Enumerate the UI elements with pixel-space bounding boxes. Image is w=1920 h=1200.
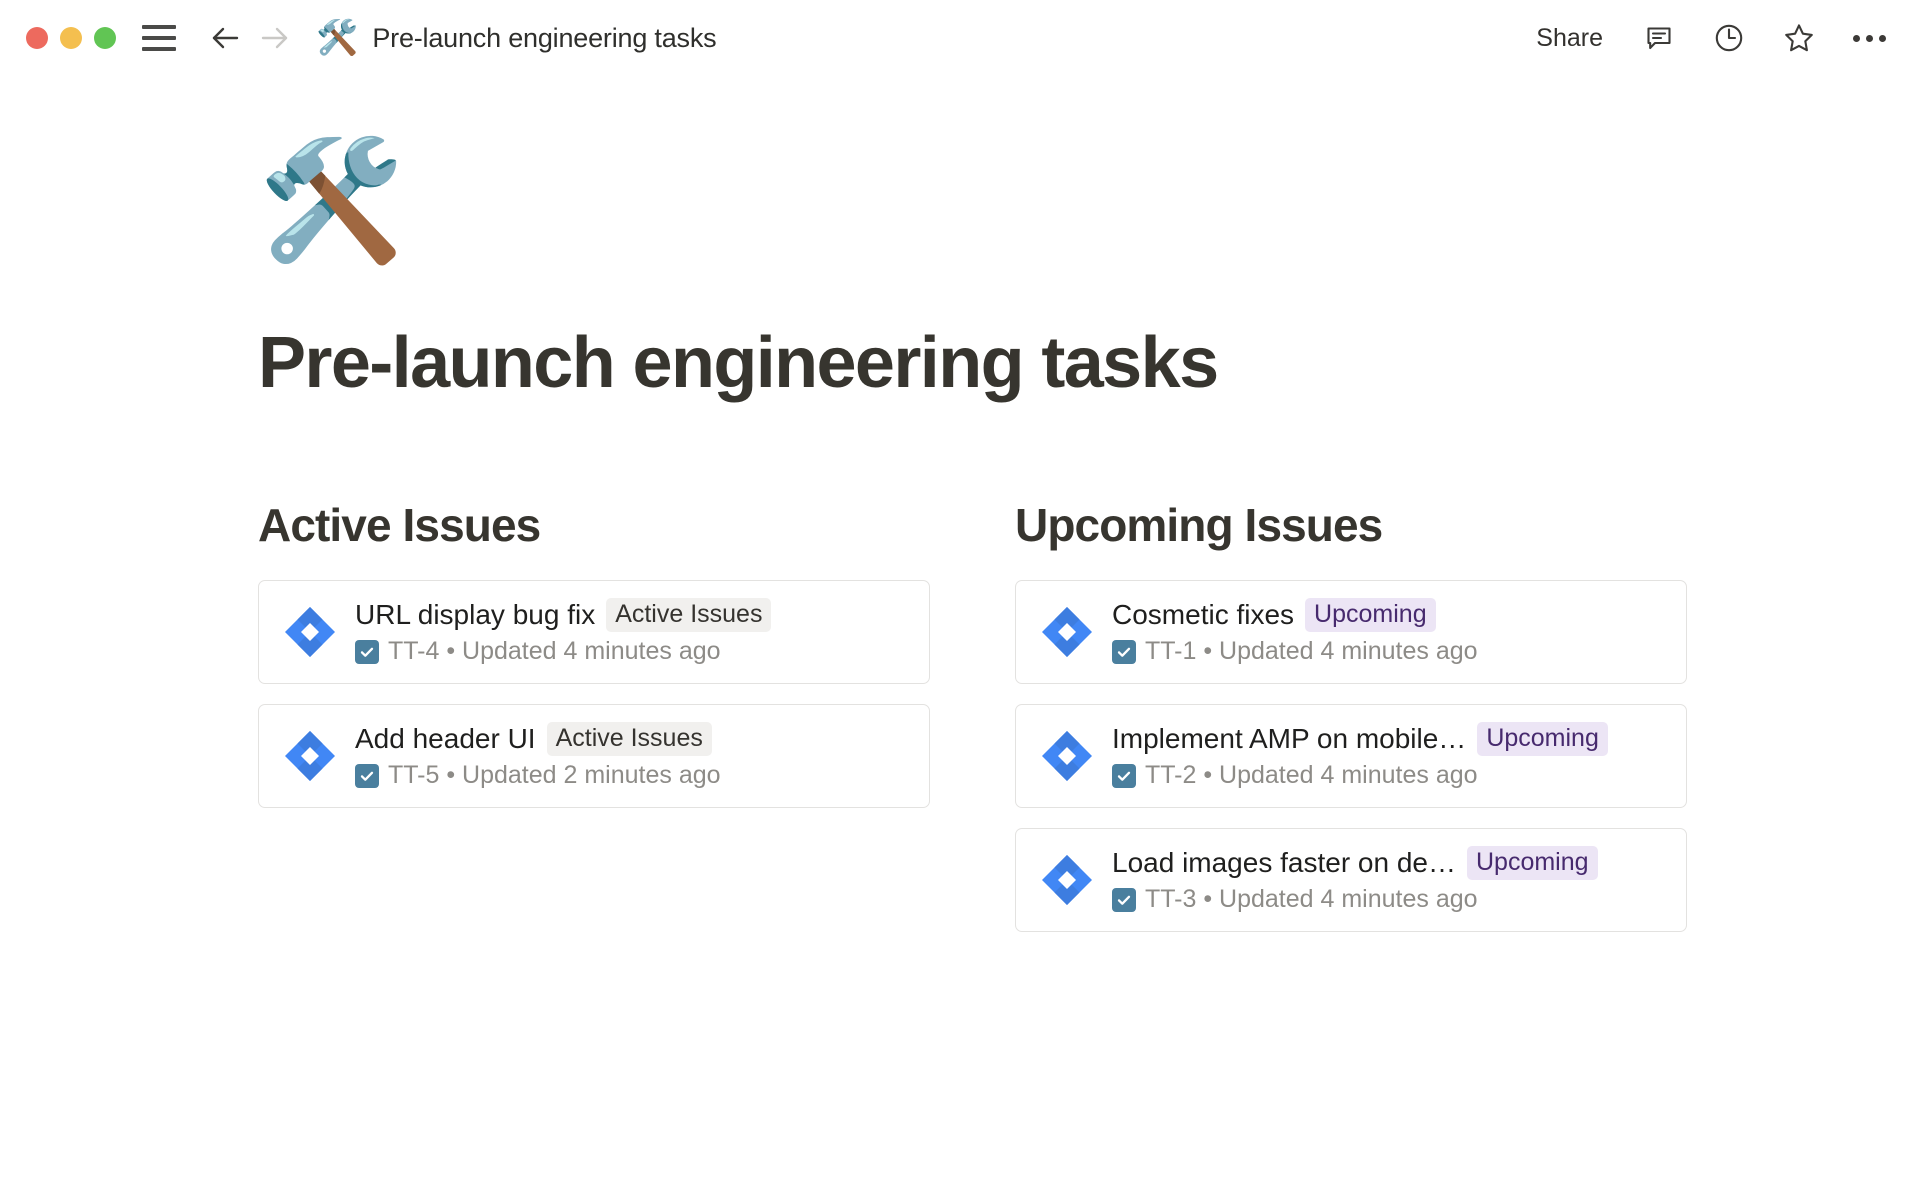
status-badge: Upcoming — [1477, 722, 1608, 757]
star-icon[interactable] — [1779, 18, 1819, 58]
share-button[interactable]: Share — [1530, 20, 1609, 57]
ellipsis-icon[interactable] — [1849, 35, 1890, 42]
arrow-left-icon[interactable] — [204, 17, 246, 59]
issue-card-meta-row: TT-4 • Updated 4 minutes ago — [355, 637, 911, 666]
maximize-window-button[interactable] — [94, 27, 116, 49]
issue-title: Add header UI — [355, 723, 536, 755]
issue-card-body: Add header UI Active Issues TT-5 • Updat… — [355, 722, 911, 791]
comment-icon[interactable] — [1639, 18, 1679, 58]
issue-card-body: URL display bug fix Active Issues TT-4 •… — [355, 598, 911, 667]
issue-meta: TT-2 • Updated 4 minutes ago — [1145, 761, 1478, 790]
page-title[interactable]: Pre-launch engineering tasks — [258, 324, 1920, 403]
status-badge: Upcoming — [1305, 598, 1436, 633]
issue-card-title-row: Cosmetic fixes Upcoming — [1112, 598, 1668, 633]
issue-card[interactable]: URL display bug fix Active Issues TT-4 •… — [258, 580, 930, 684]
jira-icon — [1038, 603, 1096, 661]
column-upcoming-issues: Upcoming Issues Cosmetic fixes — [1015, 499, 1687, 952]
issue-card-meta-row: TT-1 • Updated 4 minutes ago — [1112, 637, 1668, 666]
issue-checkbox[interactable] — [355, 764, 379, 788]
issue-card-title-row: URL display bug fix Active Issues — [355, 598, 911, 633]
status-badge: Active Issues — [547, 722, 712, 757]
page-emoji-icon[interactable]: 🛠️ — [258, 142, 1920, 282]
issue-card-title-row: Load images faster on de… Upcoming — [1112, 846, 1668, 881]
issue-meta: TT-4 • Updated 4 minutes ago — [388, 637, 721, 666]
traffic-lights — [26, 27, 116, 49]
issue-checkbox[interactable] — [355, 640, 379, 664]
close-window-button[interactable] — [26, 27, 48, 49]
jira-icon — [1038, 851, 1096, 909]
page-content: 🛠️ Pre-launch engineering tasks Active I… — [0, 76, 1920, 952]
section-heading[interactable]: Upcoming Issues — [1015, 499, 1687, 552]
minimize-window-button[interactable] — [60, 27, 82, 49]
issue-card-title-row: Add header UI Active Issues — [355, 722, 911, 757]
status-badge: Upcoming — [1467, 846, 1598, 881]
status-badge: Active Issues — [606, 598, 771, 633]
issue-card-body: Implement AMP on mobile… Upcoming TT-2 •… — [1112, 722, 1668, 791]
hamburger-icon[interactable] — [142, 25, 176, 51]
issue-meta: TT-1 • Updated 4 minutes ago — [1145, 637, 1478, 666]
issue-card[interactable]: Implement AMP on mobile… Upcoming TT-2 •… — [1015, 704, 1687, 808]
issue-card[interactable]: Load images faster on de… Upcoming TT-3 … — [1015, 828, 1687, 932]
issue-card[interactable]: Add header UI Active Issues TT-5 • Updat… — [258, 704, 930, 808]
issue-title: Cosmetic fixes — [1112, 599, 1294, 631]
issue-card-meta-row: TT-5 • Updated 2 minutes ago — [355, 761, 911, 790]
issue-title: URL display bug fix — [355, 599, 595, 631]
section-heading[interactable]: Active Issues — [258, 499, 930, 552]
arrow-right-icon[interactable] — [254, 17, 296, 59]
issue-title: Load images faster on de… — [1112, 847, 1456, 879]
breadcrumb-document-title[interactable]: Pre-launch engineering tasks — [372, 23, 716, 54]
title-bar: 🛠️ Pre-launch engineering tasks Share — [0, 0, 1920, 76]
issue-checkbox[interactable] — [1112, 764, 1136, 788]
jira-icon — [281, 727, 339, 785]
issue-card-body: Cosmetic fixes Upcoming TT-1 • Updated 4… — [1112, 598, 1668, 667]
jira-icon — [281, 603, 339, 661]
issue-meta: TT-5 • Updated 2 minutes ago — [388, 761, 721, 790]
issue-card-title-row: Implement AMP on mobile… Upcoming — [1112, 722, 1668, 757]
columns-container: Active Issues URL display bug fix — [258, 499, 1920, 952]
issue-title: Implement AMP on mobile… — [1112, 723, 1466, 755]
jira-icon — [1038, 727, 1096, 785]
issue-card[interactable]: Cosmetic fixes Upcoming TT-1 • Updated 4… — [1015, 580, 1687, 684]
issue-checkbox[interactable] — [1112, 888, 1136, 912]
issue-checkbox[interactable] — [1112, 640, 1136, 664]
issue-card-meta-row: TT-2 • Updated 4 minutes ago — [1112, 761, 1668, 790]
issue-meta: TT-3 • Updated 4 minutes ago — [1145, 885, 1478, 914]
document-emoji-icon: 🛠️ — [316, 21, 358, 55]
issue-card-meta-row: TT-3 • Updated 4 minutes ago — [1112, 885, 1668, 914]
clock-icon[interactable] — [1709, 18, 1749, 58]
issue-card-body: Load images faster on de… Upcoming TT-3 … — [1112, 846, 1668, 915]
titlebar-actions: Share — [1530, 18, 1890, 58]
column-active-issues: Active Issues URL display bug fix — [258, 499, 930, 952]
app-window: 🛠️ Pre-launch engineering tasks Share — [0, 0, 1920, 1200]
